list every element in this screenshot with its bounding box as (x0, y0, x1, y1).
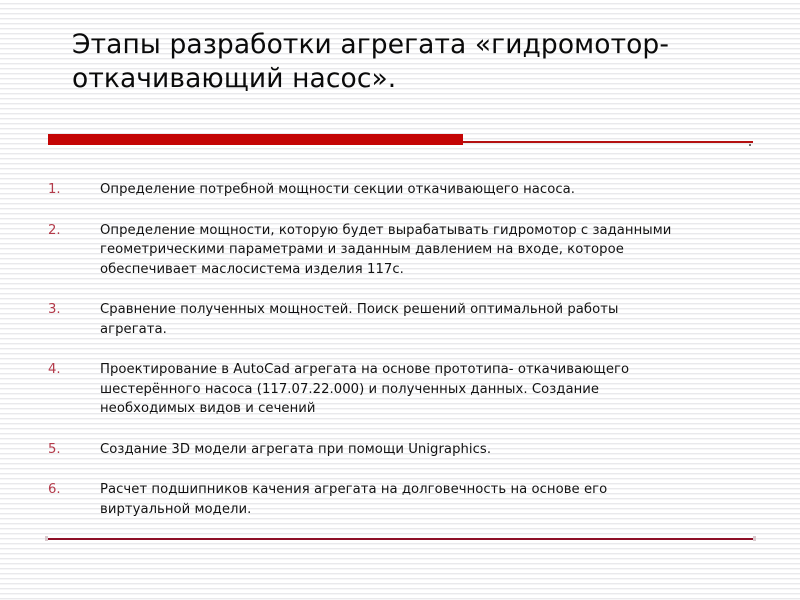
list-item-number: 1. (48, 180, 100, 199)
list-item-text: Определение мощности, которую будет выра… (100, 221, 748, 280)
accent-thick-bar (48, 134, 463, 145)
title-block: Этапы разработки агрегата «гидромотор- о… (72, 28, 742, 96)
list-item: 6. Расчет подшипников качения агрегата н… (48, 480, 748, 519)
list-item-text: Определение потребной мощности секции от… (100, 180, 748, 200)
list-item: 4. Проектирование в AutoCad агрегата на … (48, 360, 748, 419)
list-item-text: Сравнение полученных мощностей. Поиск ре… (100, 300, 748, 339)
list-item-number: 6. (48, 480, 100, 499)
list-item-number: 4. (48, 360, 100, 379)
list-item: 1. Определение потребной мощности секции… (48, 180, 748, 200)
list-item: 5. Создание 3D модели агрегата при помощ… (48, 440, 748, 460)
list-item-text: Расчет подшипников качения агрегата на д… (100, 480, 748, 519)
bottom-rule-cap-right (753, 536, 756, 541)
page-title: Этапы разработки агрегата «гидромотор- о… (72, 28, 742, 96)
accent-dot-marker (749, 144, 751, 146)
list-item-number: 5. (48, 440, 100, 459)
list-item: 2. Определение мощности, которую будет в… (48, 221, 748, 280)
numbered-list: 1. Определение потребной мощности секции… (48, 180, 748, 519)
presentation-slide: Этапы разработки агрегата «гидромотор- о… (0, 0, 800, 600)
list-item-number: 2. (48, 221, 100, 240)
list-item-text: Проектирование в AutoCad агрегата на осн… (100, 360, 748, 419)
list-item-number: 3. (48, 300, 100, 319)
list-item: 3. Сравнение полученных мощностей. Поиск… (48, 300, 748, 339)
bottom-divider-rule (48, 538, 753, 540)
list-item-text: Создание 3D модели агрегата при помощи U… (100, 440, 748, 460)
